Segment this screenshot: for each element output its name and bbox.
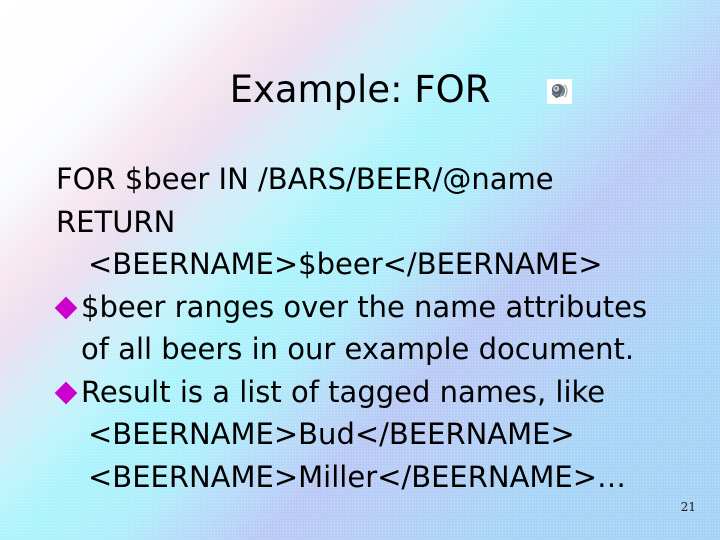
body-bullet-2: Result is a list of tagged names, like — [56, 371, 676, 414]
diamond-bullet-icon — [56, 296, 80, 320]
slide-body: FOR $beer IN /BARS/BEER/@name RETURN <BE… — [56, 158, 676, 498]
body-line-3: <BEERNAME>$beer</BEERNAME> — [56, 243, 676, 286]
body-line-7: <BEERNAME>Bud</BEERNAME> — [56, 413, 676, 456]
body-bullet-1-continuation: of all beers in our example document. — [56, 328, 676, 371]
sound-icon[interactable] — [547, 79, 572, 104]
body-bullet-1-text: $beer ranges over the name attributes — [81, 290, 647, 324]
body-line-1: FOR $beer IN /BARS/BEER/@name — [56, 158, 676, 201]
slide: Example: FOR FOR $beer IN /BARS/BEER/@na… — [0, 0, 720, 540]
body-line-2: RETURN — [56, 201, 676, 244]
slide-title: Example: FOR — [0, 68, 720, 112]
body-bullet-2-text: Result is a list of tagged names, like — [81, 375, 605, 409]
slide-title-text: Example: FOR — [230, 68, 491, 112]
body-line-8: <BEERNAME>Miller</BEERNAME>… — [56, 456, 676, 499]
page-number: 21 — [681, 500, 696, 514]
body-bullet-1: $beer ranges over the name attributes — [56, 286, 676, 329]
diamond-bullet-icon — [56, 381, 80, 405]
